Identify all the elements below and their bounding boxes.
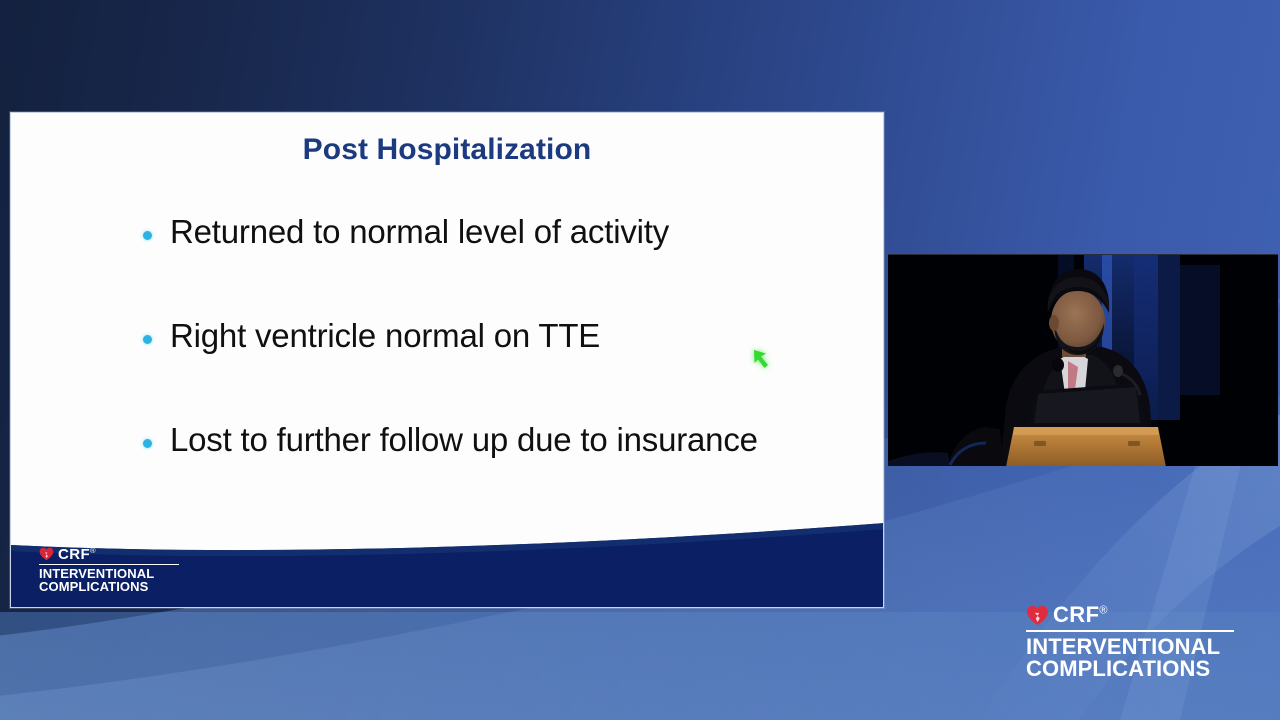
crf-logo-top: CRF® xyxy=(1026,604,1234,626)
bullet-item: Right ventricle normal on TTE xyxy=(143,317,843,361)
slide-bullet-list: Returned to normal level of activity Rig… xyxy=(143,213,843,525)
logo-divider xyxy=(39,564,179,565)
logo-subtitle-line1: INTERVENTIONAL xyxy=(1026,636,1234,658)
logo-subtitle-line1: INTERVENTIONAL xyxy=(39,567,179,580)
crf-logo-top: CRF® xyxy=(39,547,179,562)
laser-pointer-arrow-icon xyxy=(750,346,776,372)
bullet-item: Returned to normal level of activity xyxy=(143,213,843,257)
crf-watermark-logo: CRF® INTERVENTIONAL COMPLICATIONS xyxy=(1026,604,1234,681)
bullet-text: Returned to normal level of activity xyxy=(170,213,669,251)
video-stage: Post Hospitalization Returned to normal … xyxy=(0,0,1280,720)
crf-brand-text: CRF® xyxy=(58,547,96,562)
slide-footer-logo: CRF® INTERVENTIONAL COMPLICATIONS xyxy=(39,547,179,594)
logo-divider xyxy=(1026,630,1234,632)
bullet-dot-icon xyxy=(143,335,152,344)
speaker-at-podium-image xyxy=(888,255,1278,466)
logo-subtitle-line2: COMPLICATIONS xyxy=(39,580,179,593)
slide-title: Post Hospitalization xyxy=(11,133,883,167)
heart-icon xyxy=(39,547,54,561)
bullet-text: Lost to further follow up due to insuran… xyxy=(170,421,758,459)
speaker-video-inset[interactable] xyxy=(888,254,1278,466)
bullet-text: Right ventricle normal on TTE xyxy=(170,317,600,355)
bullet-item: Lost to further follow up due to insuran… xyxy=(143,421,843,465)
logo-subtitle: INTERVENTIONAL COMPLICATIONS xyxy=(39,567,179,594)
heart-icon xyxy=(1026,605,1049,626)
crf-brand-text: CRF® xyxy=(1053,604,1108,626)
logo-subtitle-line2: COMPLICATIONS xyxy=(1026,658,1234,680)
bullet-dot-icon xyxy=(143,231,152,240)
bullet-dot-icon xyxy=(143,439,152,448)
logo-subtitle: INTERVENTIONAL COMPLICATIONS xyxy=(1026,636,1234,681)
